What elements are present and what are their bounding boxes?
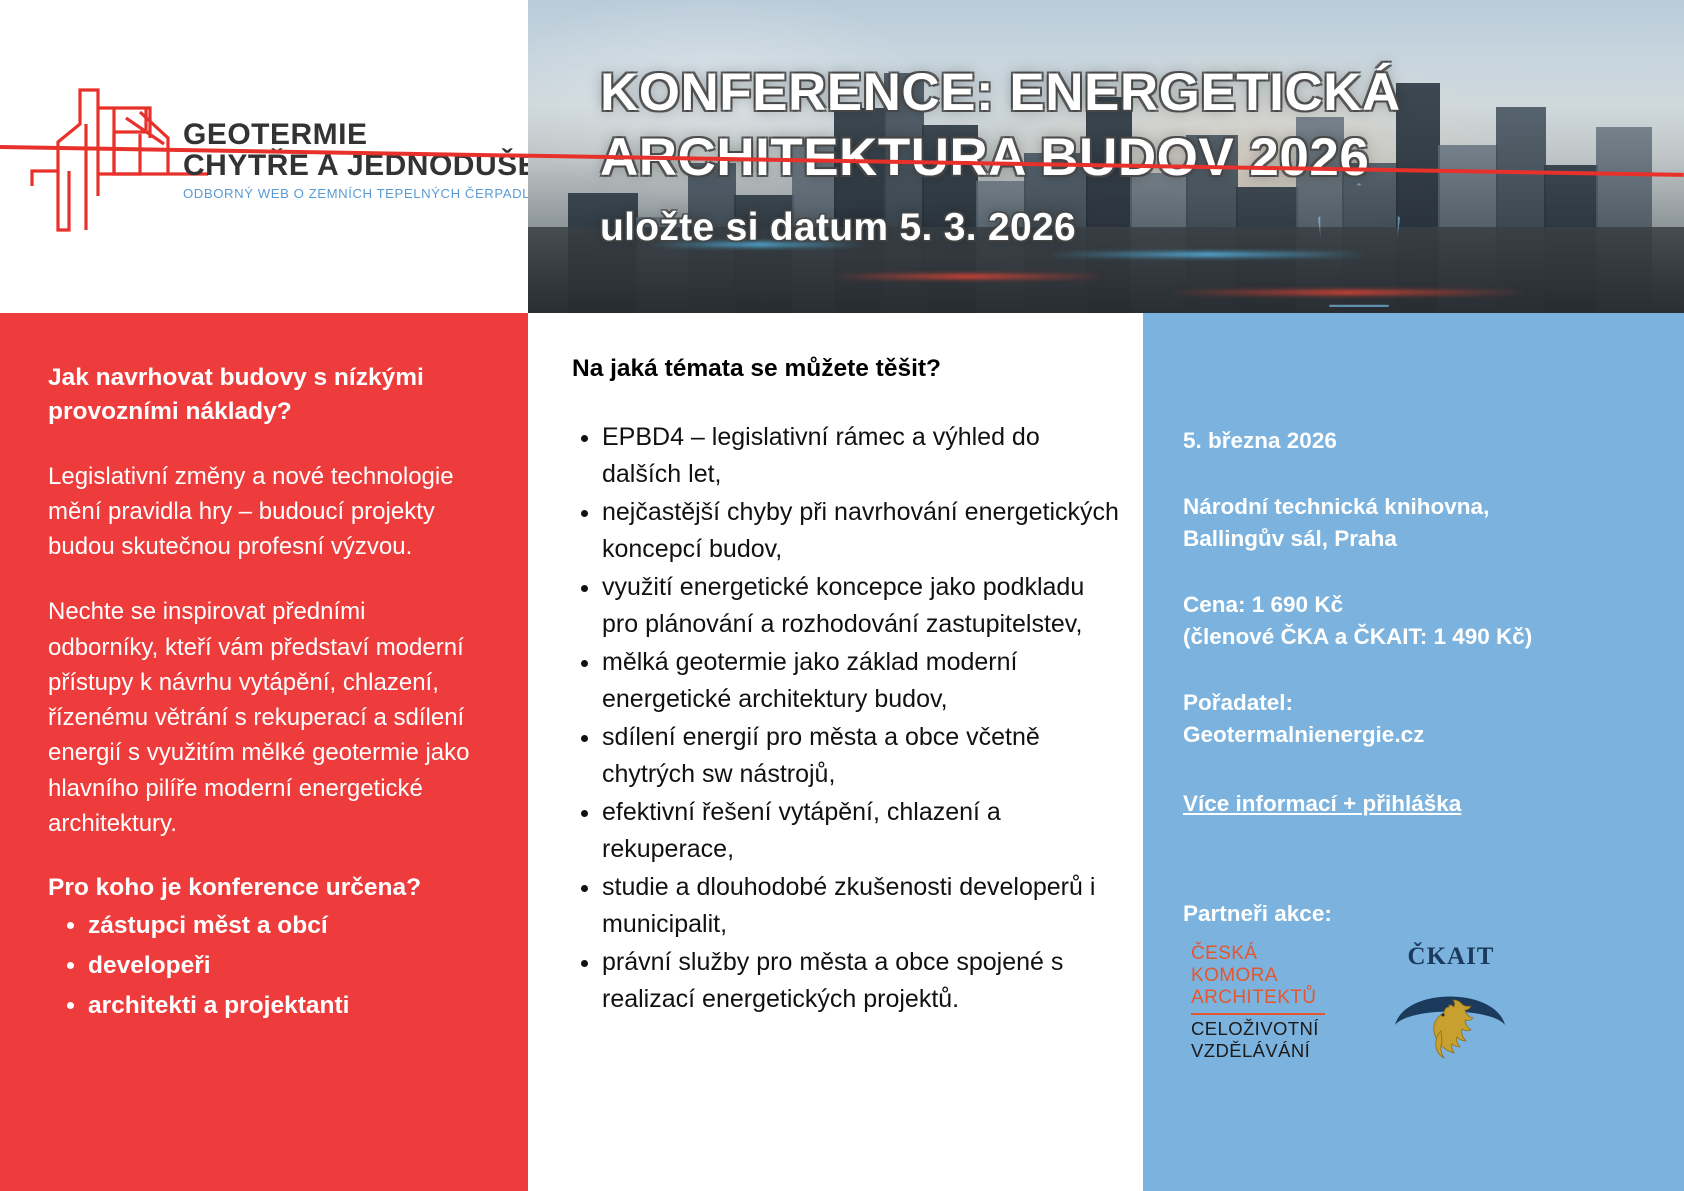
cka-logo: ČESKÁ KOMORA ARCHITEKTŮ CELOŽIVOTNÍ VZDĚ… [1191,943,1341,1062]
list-item: zástupci měst a obcí [88,906,482,946]
list-item: efektivní řešení vytápění, chlazení a re… [602,794,1123,867]
brand-name-line1: GEOTERMIE [183,120,523,151]
list-item: EPBD4 – legislativní rámec a výhled do d… [602,419,1123,492]
organizer-label: Pořadatel: [1183,687,1656,719]
brand-logo: GEOTERMIE CHYTŘE A JEDNODUŠE ODBORNÝ WEB… [28,78,514,243]
right-info-panel: 5. března 2026 Národní technická knihovn… [1143,313,1684,1191]
hero-title-line1: KONFERENCE: ENERGETICKÁ [600,60,1650,125]
list-item: studie a dlouhodobé zkušenosti developer… [602,869,1123,942]
price-members: (členové ČKA a ČKAIT: 1 490 Kč) [1183,621,1656,653]
event-price: Cena: 1 690 Kč (členové ČKA a ČKAIT: 1 4… [1183,589,1656,653]
more-info-link[interactable]: Více informací + přihláška [1183,791,1461,817]
list-item: architekti a projektanti [88,986,482,1026]
venue-line-2: Ballingův sál, Praha [1183,523,1656,555]
brand-tagline: ODBORNÝ WEB O ZEMNÍCH TEPELNÝCH ČERPADLE… [183,186,523,201]
left-heading: Jak navrhovat budovy s nízkými provozním… [48,361,482,429]
left-heading-2: Pro koho je konference určena? [48,871,482,904]
price-standard: Cena: 1 690 Kč [1183,589,1656,621]
list-item: využití energetické koncepce jako podkla… [602,569,1123,642]
target-audience-list: zástupci měst a obcí developeři architek… [48,906,482,1025]
hero-text-block: KONFERENCE: ENERGETICKÁ ARCHITEKTURA BUD… [600,60,1650,250]
topics-list: EPBD4 – legislativní rámec a výhled do d… [544,419,1123,1017]
list-item: nejčastější chyby při navrhování energet… [602,494,1123,567]
poster-body: Jak navrhovat budovy s nízkými provozním… [0,313,1684,1191]
cka-divider [1191,1013,1325,1015]
ckait-emblem-icon [1391,973,1509,1065]
hero-light-streak [828,274,1108,279]
event-venue: Národní technická knihovna, Ballingův sá… [1183,491,1656,555]
topics-heading: Na jaká témata se můžete těšit? [572,355,1123,383]
middle-topics-panel: Na jaká témata se můžete těšit? EPBD4 – … [528,313,1143,1191]
brand-logo-pane: GEOTERMIE CHYTŘE A JEDNODUŠE ODBORNÝ WEB… [0,0,528,313]
left-paragraph-1: Legislativní změny a nové technologie mě… [48,459,482,565]
list-item: developeři [88,946,482,986]
left-paragraph-2: Nechte se inspirovat předními odborníky,… [48,594,482,841]
list-item: mělká geotermie jako základ moderní ener… [602,644,1123,717]
cka-line-5: VZDĚLÁVÁNÍ [1191,1040,1341,1062]
brand-logo-text: GEOTERMIE CHYTŘE A JEDNODUŠE ODBORNÝ WEB… [183,120,523,201]
cka-line-4: CELOŽIVOTNÍ [1191,1018,1341,1040]
conference-poster: GEOTERMIE CHYTŘE A JEDNODUŠE ODBORNÝ WEB… [0,0,1684,1191]
venue-line-1: Národní technická knihovna, [1183,491,1656,523]
hero-light-streak [1048,252,1368,257]
event-organizer: Pořadatel: Geotermalnienergie.cz [1183,687,1656,751]
ckait-logo: ČKAIT [1391,943,1511,1065]
cka-line-3: ARCHITEKTŮ [1191,987,1341,1009]
event-date: 5. března 2026 [1183,425,1656,457]
organizer-name: Geotermalnienergie.cz [1183,719,1656,751]
poster-header: GEOTERMIE CHYTŘE A JEDNODUŠE ODBORNÝ WEB… [0,0,1684,313]
list-item: sdílení energií pro města a obce včetně … [602,719,1123,792]
partners-label: Partneři akce: [1183,901,1656,927]
partners-logos: ČESKÁ KOMORA ARCHITEKTŮ CELOŽIVOTNÍ VZDĚ… [1191,943,1656,1065]
hero-save-the-date: uložte si datum 5. 3. 2026 [600,206,1650,250]
cka-line-2: KOMORA [1191,965,1341,987]
left-red-panel: Jak navrhovat budovy s nízkými provozním… [0,313,528,1191]
list-item: právní služby pro města a obce spojené s… [602,944,1123,1017]
ckait-name: ČKAIT [1391,943,1511,971]
geotermie-building-outline-icon [28,78,208,238]
cka-line-1: ČESKÁ [1191,943,1341,965]
